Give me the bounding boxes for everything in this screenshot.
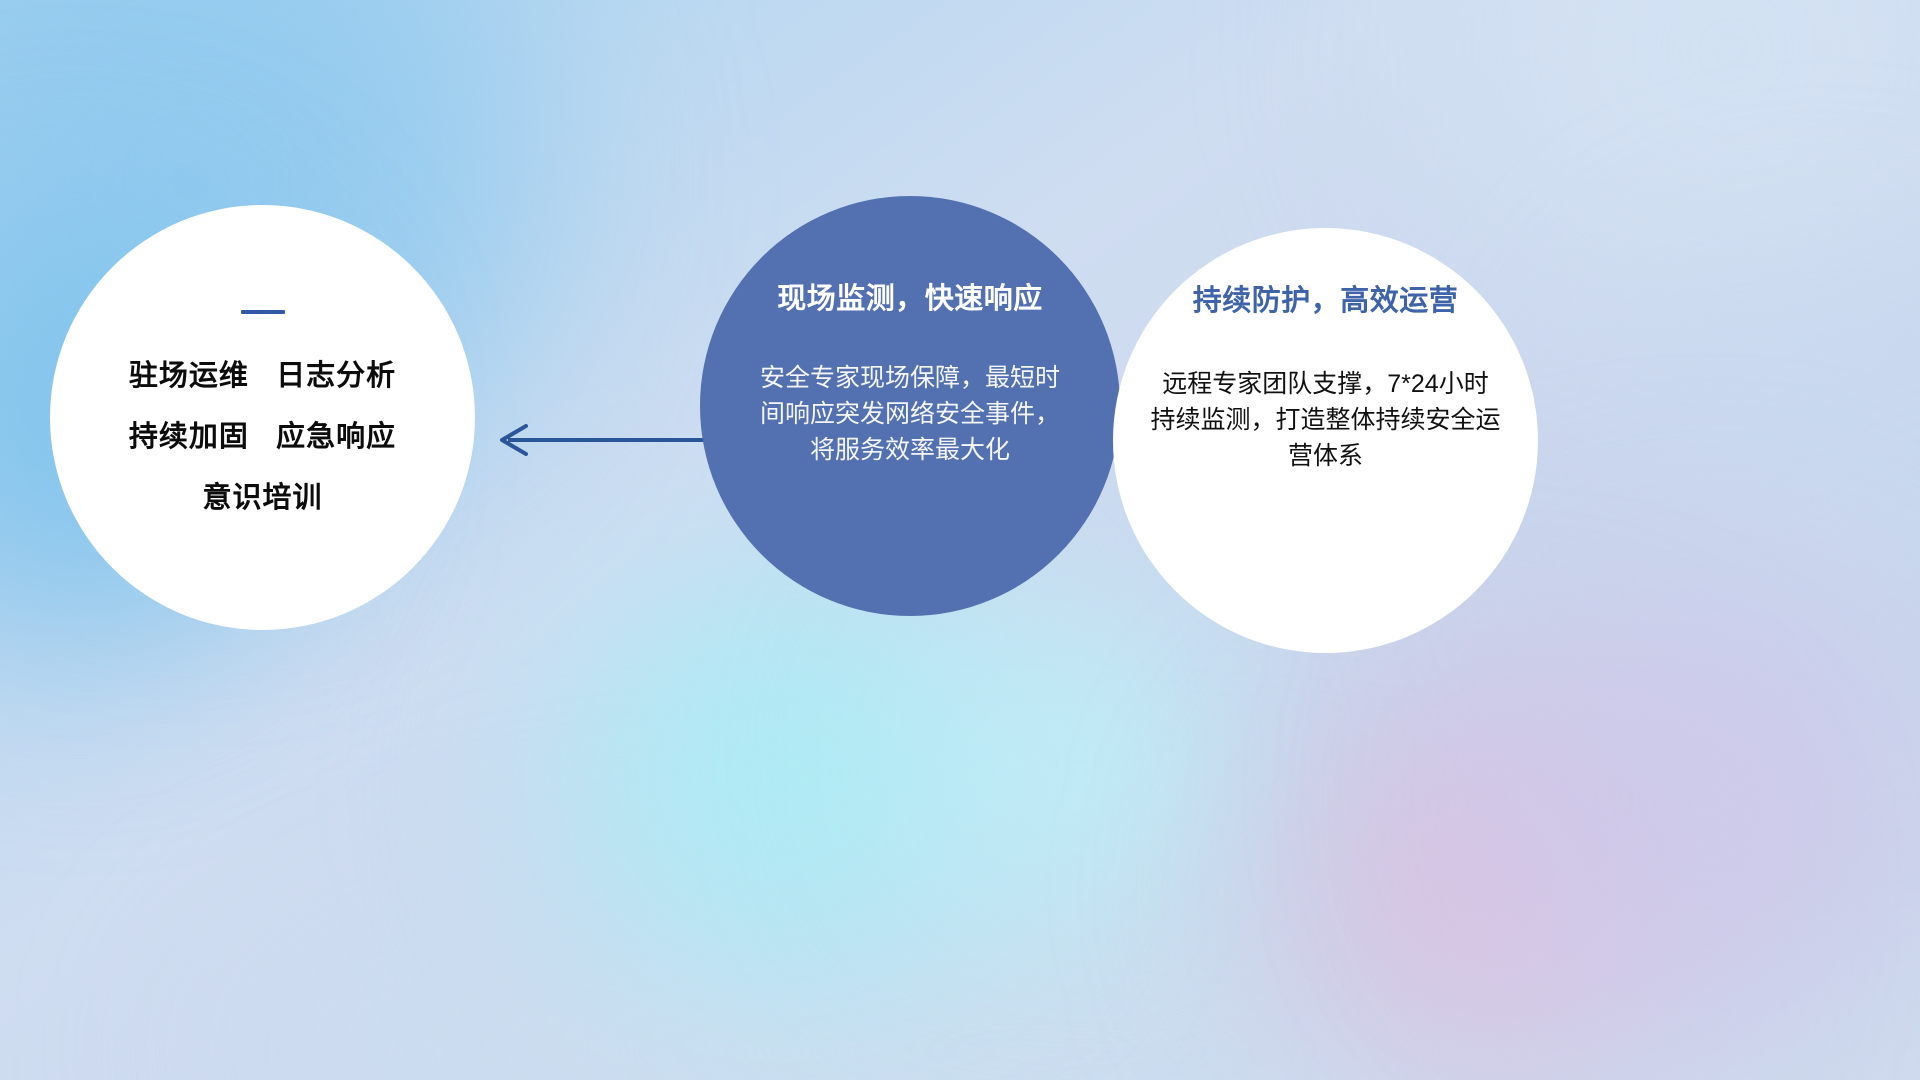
leftward-flow-arrow	[480, 415, 730, 465]
onsite-monitoring-circle[interactable]: 现场监测，快速响应 安全专家现场保障，最短时间响应突发网络安全事件，将服务效率最…	[700, 196, 1120, 616]
capabilities-content: 驻场运维 日志分析 持续加固 应急响应 意识培训	[50, 310, 475, 513]
capabilities-circle[interactable]: 驻场运维 日志分析 持续加固 应急响应 意识培训	[50, 205, 475, 630]
onsite-monitoring-body: 安全专家现场保障，最短时间响应突发网络安全事件，将服务效率最大化	[760, 360, 1060, 469]
capability-line-3: 意识培训	[202, 484, 322, 513]
capability-line-2: 持续加固 应急响应	[129, 423, 396, 452]
continuous-protection-body: 远程专家团队支撑，7*24小时持续监测，打造整体持续安全运营体系	[1151, 366, 1501, 475]
continuous-protection-title: 持续防护，高效运营	[1193, 286, 1459, 318]
onsite-monitoring-content: 现场监测，快速响应 安全专家现场保障，最短时间响应突发网络安全事件，将服务效率最…	[700, 284, 1120, 469]
capability-line-1: 驻场运维 日志分析	[129, 362, 396, 391]
continuous-protection-circle[interactable]: 持续防护，高效运营 远程专家团队支撑，7*24小时持续监测，打造整体持续安全运营…	[1113, 228, 1538, 653]
continuous-protection-content: 持续防护，高效运营 远程专家团队支撑，7*24小时持续监测，打造整体持续安全运营…	[1113, 286, 1538, 475]
divider-rule	[241, 310, 285, 314]
diagram-canvas: 驻场运维 日志分析 持续加固 应急响应 意识培训 现场监测，快速响应 安全专家现…	[0, 0, 1920, 1080]
onsite-monitoring-title: 现场监测，快速响应	[777, 284, 1043, 316]
